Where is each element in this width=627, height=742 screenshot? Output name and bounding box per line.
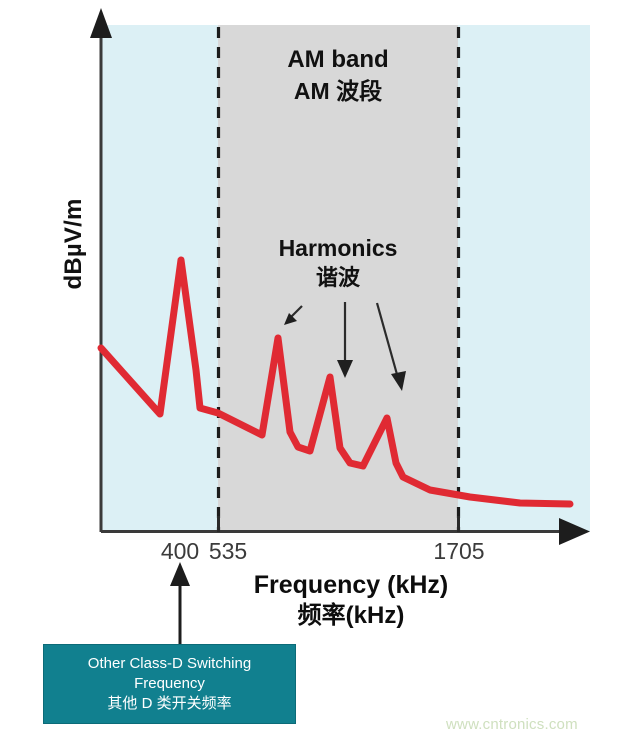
- x-tick-label-1705: 1705: [420, 538, 498, 565]
- watermark: www.cntronics.com: [446, 716, 578, 733]
- chart-canvas: [0, 0, 627, 742]
- callout-leader-arrow: [170, 562, 190, 644]
- y-axis-arrowhead-icon: [90, 8, 112, 38]
- x-tick-label-535: 535: [196, 538, 260, 565]
- harmonics-label-cn: 谐波: [218, 264, 458, 293]
- emi-spectrum-figure: dBµV/m AM band AM 波段 Harmonics 谐波 400 53…: [0, 0, 627, 742]
- switching-frequency-callout: Other Class-D Switching Frequency 其他 D 类…: [43, 644, 296, 724]
- callout-line-cn: 其他 D 类开关频率: [107, 694, 231, 714]
- y-axis-title: dBµV/m: [60, 164, 88, 324]
- am-band-label: AM band AM 波段: [218, 44, 458, 106]
- harmonics-label-en: Harmonics: [218, 234, 458, 264]
- callout-line-1: Other Class-D Switching: [88, 654, 251, 674]
- x-axis-title: Frequency (kHz) 频率(kHz): [196, 570, 506, 630]
- am-band-label-cn: AM 波段: [218, 76, 458, 106]
- x-axis-title-cn: 频率(kHz): [196, 601, 506, 630]
- am-band-label-en: AM band: [218, 44, 458, 76]
- x-axis-title-en: Frequency (kHz): [196, 570, 506, 601]
- harmonics-label: Harmonics 谐波: [218, 234, 458, 292]
- callout-line-2: Frequency: [134, 674, 205, 694]
